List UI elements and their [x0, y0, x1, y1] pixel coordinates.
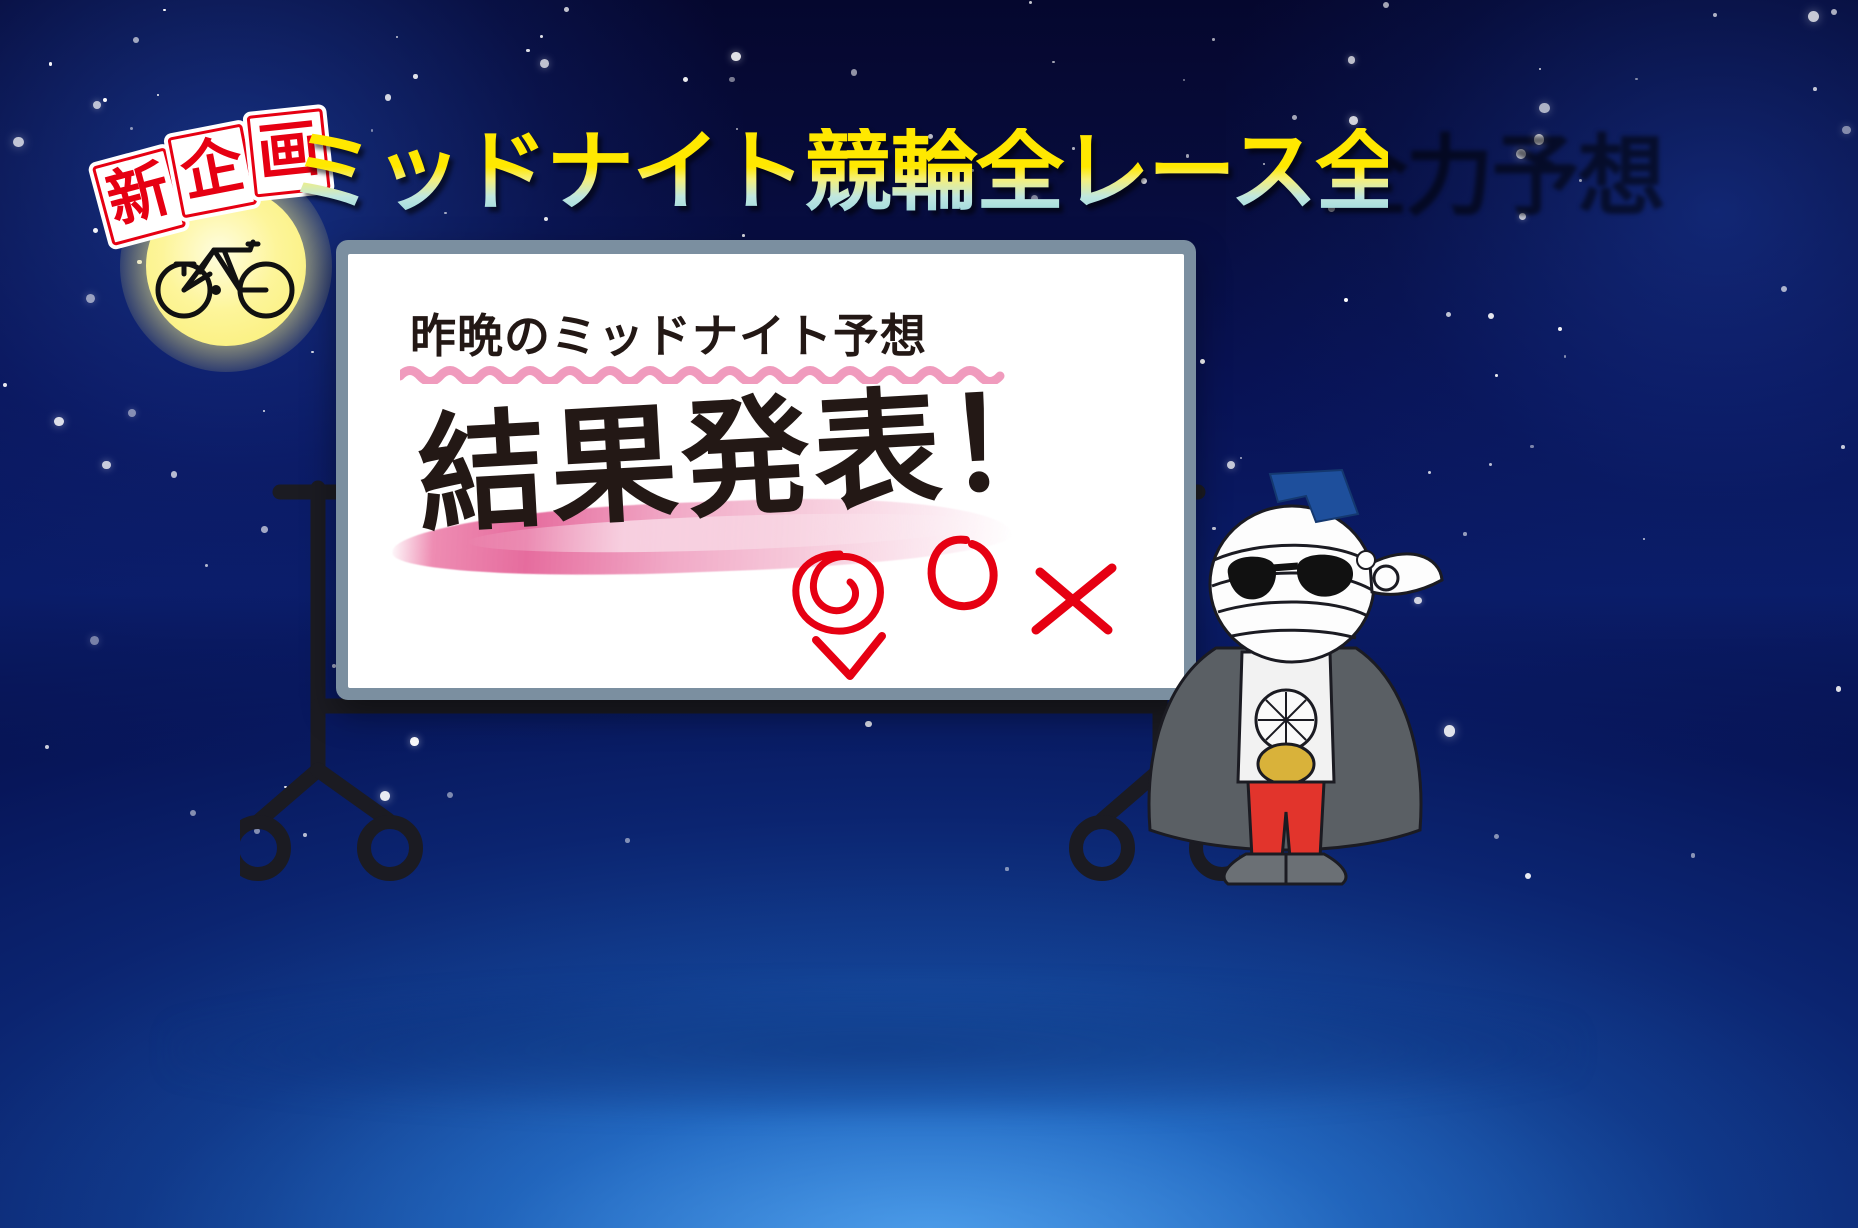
star: [1841, 445, 1845, 449]
star: [13, 137, 24, 148]
star: [1052, 61, 1054, 63]
triangle-mark: [816, 636, 882, 676]
board-headline: 結果発表！: [414, 377, 1080, 542]
star: [157, 94, 159, 96]
star: [1808, 11, 1819, 22]
star: [90, 636, 99, 645]
star: [683, 77, 688, 82]
keirin-mummy-mascot: [1120, 452, 1450, 912]
star: [1781, 286, 1787, 292]
star: [396, 36, 398, 38]
star: [54, 417, 64, 427]
star: [1489, 463, 1492, 466]
star: [311, 351, 313, 353]
banner-stage: 新 企 画 ミッドナイト競輪全レース全力予想 ミッドナイト競輪全レース全力予想 …: [0, 0, 1858, 1228]
star: [1842, 126, 1851, 135]
star: [1200, 359, 1205, 364]
mascot-bandage-knot: [1374, 566, 1398, 590]
star: [1463, 532, 1467, 536]
page-title: ミッドナイト競輪全レース全力予想: [288, 128, 1388, 216]
star: [102, 461, 110, 469]
star: [49, 62, 53, 66]
circle-mark: [932, 540, 994, 607]
star: [742, 234, 745, 237]
mascot-helmet-stud: [1357, 551, 1375, 569]
star: [190, 810, 196, 816]
bicycle-icon: [154, 214, 298, 324]
star: [731, 52, 740, 61]
star: [1348, 56, 1355, 63]
star: [93, 228, 98, 233]
board-subtitle: 昨晩のミッドナイト予想: [410, 300, 927, 366]
star: [1495, 374, 1498, 377]
mascot-shoe-left: [1224, 854, 1288, 884]
star: [1212, 38, 1215, 41]
star: [1525, 873, 1531, 879]
whiteboard: 昨晩のミッドナイト予想 結果発表！: [336, 240, 1196, 700]
star: [93, 101, 101, 109]
star: [1813, 87, 1817, 91]
star: [1691, 853, 1695, 857]
star: [564, 7, 569, 12]
star: [385, 94, 391, 100]
star: [1530, 445, 1534, 449]
star: [1539, 103, 1550, 114]
star: [1558, 327, 1562, 331]
star: [86, 294, 95, 303]
mascot-belt-buckle: [1258, 744, 1314, 784]
floor-shadow: [167, 982, 1579, 1117]
star: [1488, 313, 1494, 319]
prediction-marks: [778, 524, 1158, 684]
star: [413, 74, 418, 79]
star: [1494, 834, 1499, 839]
cross-mark: [1036, 568, 1112, 630]
star: [163, 9, 165, 11]
star: [45, 745, 49, 749]
star: [1836, 686, 1841, 691]
mascot-shoe-right: [1286, 854, 1346, 884]
stamp-char-2: 企: [167, 123, 257, 218]
star: [526, 49, 529, 52]
star: [540, 35, 543, 38]
whiteboard-surface: 昨晩のミッドナイト予想 結果発表！: [348, 254, 1184, 688]
star: [205, 564, 208, 567]
double-circle-mark: [796, 554, 881, 631]
star: [1713, 13, 1717, 17]
star: [171, 471, 177, 477]
